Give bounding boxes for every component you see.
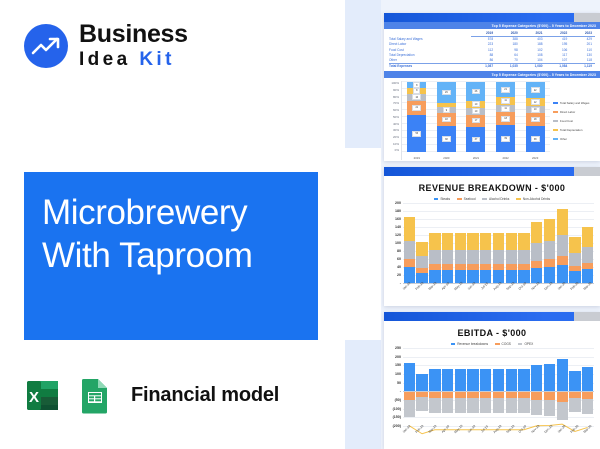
axis-tick: 10% [387, 142, 399, 146]
legend-swatch [553, 111, 558, 113]
trend-line [403, 348, 594, 449]
legend-item: Steaks [434, 197, 450, 201]
spreadsheet-tab-bar [384, 167, 600, 176]
chart-bar [506, 203, 517, 283]
legend-swatch [553, 129, 558, 131]
page-title-line-1: Microbrewery [42, 192, 312, 235]
expenses-x-axis: 20192020202120222023 [402, 156, 550, 160]
chart-bar: 2610101737 [466, 82, 485, 152]
bar-segment [467, 233, 478, 251]
expenses-plot: 8810215329918382610101737211111183922121… [401, 81, 550, 160]
bar-segment: 39 [496, 125, 515, 152]
bar-segment: 12 [526, 98, 545, 106]
bar-segment [467, 250, 478, 264]
bar-value-label: 22 [531, 87, 540, 93]
excel-icon: X [24, 375, 65, 416]
axis-tick: - [400, 389, 401, 393]
legend-item: Total Depreciation [553, 128, 597, 132]
chart-bar [569, 203, 580, 283]
bar-segment: 38 [526, 126, 545, 153]
legend-label: Total Depreciation [560, 128, 582, 132]
legend-label: Steaks [440, 197, 450, 201]
axis-tick: 20% [387, 135, 399, 139]
bar-segment: 10 [466, 101, 485, 108]
revenue-chart-title: REVENUE BREAKDOWN - $'000 [384, 176, 600, 193]
legend-label: OPEX [524, 342, 533, 346]
legend-item: Seafood [457, 197, 475, 201]
bar-value-label: 18 [442, 117, 451, 123]
bar-value-label: 10 [412, 94, 421, 100]
decorative-band-top [345, 0, 381, 148]
chart-bar [531, 203, 542, 283]
legend-item: COGS [495, 342, 511, 346]
chart-bar [582, 203, 593, 283]
axis-tick: 120 [395, 233, 401, 237]
bar-segment: 37 [466, 127, 485, 153]
bar-segment [506, 233, 517, 251]
table-cell: 86 [471, 58, 496, 63]
chart-bar: 2111111839 [496, 82, 515, 152]
axis-tick: 250 [395, 346, 401, 350]
bar-segment: 11 [496, 97, 515, 105]
bar-segment: 38 [437, 126, 456, 153]
bar-value-label: 26 [472, 89, 481, 95]
axis-tick: 40 [397, 265, 401, 269]
legend-label: Revenue breakdowns [457, 342, 488, 346]
bar-segment [404, 241, 415, 259]
bar-segment [557, 209, 568, 235]
legend-item: Total Salary and Wages [553, 101, 597, 105]
legend-swatch [495, 343, 500, 346]
axis-tick: 100 [395, 241, 401, 245]
hero-block: MicrobreweryWith Taproom [24, 172, 318, 340]
bar-segment: 18 [496, 112, 515, 125]
bar-segment [442, 264, 453, 270]
bar-value-label: 39 [501, 136, 510, 142]
bar-segment: 29 [437, 82, 456, 102]
bar-segment: 21 [496, 82, 515, 97]
axis-tick: 50 [397, 381, 401, 385]
axis-tick: 40% [387, 122, 399, 126]
axis-tick: 90% [387, 88, 399, 92]
axis-tick: 2019 [407, 156, 426, 160]
bar-segment [506, 264, 517, 270]
legend-swatch [516, 198, 521, 201]
bar-value-label: 38 [442, 136, 451, 142]
bar-segment: 11 [496, 105, 515, 113]
ebitda-plot [403, 348, 594, 426]
axis-tick: 150 [395, 363, 401, 367]
bar-segment: 10 [526, 106, 545, 113]
chart-bar: 88102153 [407, 82, 426, 152]
bar-segment [467, 264, 478, 270]
bar-segment [442, 250, 453, 264]
bar-segment [557, 265, 568, 283]
axis-tick: 20 [397, 273, 401, 277]
axis-tick: 30% [387, 128, 399, 132]
bar-segment [582, 263, 593, 269]
bar-segment: 17 [466, 115, 485, 127]
axis-tick: (100) [393, 407, 401, 411]
bar-segment [429, 233, 440, 251]
axis-tick: 50% [387, 115, 399, 119]
bar-segment [544, 259, 555, 267]
axis-tick: 200 [395, 355, 401, 359]
bar-segment [442, 233, 453, 251]
legend-label: Direct Labor [560, 110, 575, 114]
bar-segment: 22 [526, 82, 545, 97]
expenses-stacked-chart: 100%90%80%70%60%50%40%30%20%10%0% 881021… [384, 78, 600, 160]
chart-bar [480, 203, 491, 283]
bar-segment [582, 247, 593, 263]
bar-segment [518, 250, 529, 264]
bar-segment [557, 235, 568, 256]
legend-swatch [553, 120, 558, 122]
bar-segment [493, 250, 504, 264]
legend-label: Seafood [464, 197, 476, 201]
brand-name-line1: Business [79, 22, 188, 47]
bar-value-label: 53 [412, 131, 421, 137]
bar-segment [569, 253, 580, 266]
bar-segment [518, 233, 529, 251]
bar-segment [544, 219, 555, 241]
table-cell: 104 [521, 58, 546, 63]
table-cell: 1,119 [570, 64, 595, 69]
axis-tick: (150) [393, 415, 401, 419]
axis-tick: 180 [395, 209, 401, 213]
legend-swatch [451, 343, 456, 346]
axis-tick: 80 [397, 249, 401, 253]
page-title: MicrobreweryWith Taproom [42, 192, 312, 277]
bar-value-label: 12 [531, 99, 540, 105]
chart-bar [404, 203, 415, 283]
axis-tick: 2021 [466, 156, 485, 160]
bar-segment [569, 237, 580, 253]
axis-tick: 100 [395, 372, 401, 376]
legend-item: Alcohol Drinks [482, 197, 509, 201]
bar-segment: 10 [407, 94, 426, 101]
bar-value-label: 11 [501, 98, 509, 104]
table-row: Other8670104107118 [389, 58, 595, 63]
preview-card-ebitda[interactable]: EBITDA - $'000 Revenue breakdownsCOGSOPE… [384, 312, 600, 449]
bar-value-label: 29 [442, 90, 451, 96]
chart-bar [455, 203, 466, 283]
bar-segment [569, 266, 580, 271]
trending-up-arrow-circle-icon [24, 24, 68, 68]
table-cell: 1,087 [471, 64, 496, 69]
expenses-table-banner: Top 5 Expense Categories ($'000) - 5 Yea… [384, 22, 600, 29]
legend-item: OPEX [518, 342, 533, 346]
bar-segment [531, 222, 542, 244]
brand-name-line2: Idea Kit [79, 50, 188, 69]
table-total-row: Total Expenses1,0871,0351,0801,0841,119 [389, 63, 595, 69]
bar-segment: 26 [466, 82, 485, 100]
expenses-table: 20192020202120222023Total Salary and Wag… [384, 29, 600, 71]
bar-segment [455, 264, 466, 270]
bar-segment [416, 242, 427, 256]
axis-tick: 140 [395, 225, 401, 229]
bar-segment [480, 264, 491, 270]
table-row-label: Total Expenses [389, 64, 471, 69]
bar-segment: 21 [407, 101, 426, 116]
revenue-x-axis: Jan-19Feb-19Mar-19Apr-19May-19Jun-19Jul-… [384, 284, 600, 288]
revenue-plot [403, 203, 594, 283]
axis-tick: 80% [387, 95, 399, 99]
bar-segment: 18 [526, 113, 545, 126]
revenue-y-axis: 20018016014012010080604020- [387, 203, 403, 283]
chart-bar [416, 203, 427, 283]
bar-segment [506, 250, 517, 264]
axis-tick: 2022 [496, 156, 515, 160]
legend-label: Other [560, 137, 567, 141]
bar-segment [429, 264, 440, 270]
legend-swatch [482, 198, 487, 201]
page-title-line-2: With Taproom [42, 235, 312, 278]
legend-item: Food Cost [553, 119, 597, 123]
legend-swatch [518, 343, 523, 346]
bar-segment [518, 264, 529, 270]
bar-segment [493, 264, 504, 270]
bar-segment [480, 233, 491, 251]
axis-tick: 2020 [437, 156, 456, 160]
table-cell: 118 [570, 58, 595, 63]
spreadsheet-tab-bar [384, 312, 600, 321]
bar-segment [429, 250, 440, 264]
ebitda-chart-title: EBITDA - $'000 [384, 321, 600, 338]
axis-tick: 160 [395, 217, 401, 221]
ebitda-y-axis: 25020015010050-(50)(100)(150)(200) [387, 348, 403, 426]
bar-value-label: 11 [501, 106, 509, 112]
legend-swatch [553, 138, 558, 140]
spreadsheet-tab-bar [384, 13, 600, 22]
bar-value-label: 10 [472, 101, 481, 107]
bar-value-label: 18 [531, 117, 540, 123]
bar-value-label: 9 [443, 107, 450, 113]
chart-bar: 2991838 [437, 82, 456, 152]
bar-value-label: 37 [472, 137, 481, 143]
revenue-legend: SteaksSeafoodAlcohol DrinksNon-Alcohol D… [384, 193, 600, 203]
axis-tick: 100% [387, 81, 399, 85]
legend-item: Direct Labor [553, 110, 597, 114]
bar-segment [416, 256, 427, 268]
bar-segment [404, 217, 415, 241]
chart-bar [493, 203, 504, 283]
chart-bar [557, 203, 568, 283]
table-cell: 1,080 [521, 64, 546, 69]
table-cell: 107 [546, 58, 571, 63]
chart-bar [544, 203, 555, 283]
chart-bar: 2212101838 [526, 82, 545, 152]
format-row: X Financial model [24, 375, 279, 416]
legend-item: Revenue breakdowns [451, 342, 488, 346]
table-row-label: Other [389, 58, 471, 63]
axis-tick: 2023 [526, 156, 545, 160]
legend-label: COGS [502, 342, 511, 346]
chart-bar [518, 203, 529, 283]
bar-segment: 18 [437, 113, 456, 126]
axis-tick: 200 [395, 201, 401, 205]
bar-segment [557, 256, 568, 264]
preview-card-expenses[interactable]: Top 5 Expense Categories ($'000) - 5 Yea… [384, 13, 600, 161]
legend-label: Food Cost [560, 119, 573, 123]
expenses-y-axis: 100%90%80%70%60%50%40%30%20%10%0% [387, 81, 401, 160]
brand-kit-text: Kit [139, 49, 175, 70]
legend-swatch [553, 102, 558, 104]
axis-tick: 0% [387, 148, 399, 152]
brand-idea-text: Idea [79, 49, 139, 70]
axis-tick: - [400, 281, 401, 285]
bar-value-label: 17 [472, 118, 481, 124]
bar-value-label: 21 [501, 87, 510, 93]
legend-swatch [457, 198, 462, 201]
bar-segment [493, 233, 504, 251]
axis-tick: 60% [387, 108, 399, 112]
bar-segment: 10 [466, 108, 485, 115]
bar-value-label: 21 [412, 105, 421, 111]
decorative-band-bottom [345, 340, 381, 449]
ebitda-legend: Revenue breakdownsCOGSOPEX [384, 338, 600, 348]
bar-value-label: 10 [531, 107, 540, 113]
table-cell: 1,084 [546, 64, 571, 69]
bar-value-label: 18 [501, 116, 510, 122]
bar-value-label: 10 [472, 108, 481, 114]
bar-segment [582, 227, 593, 248]
preview-card-revenue[interactable]: REVENUE BREAKDOWN - $'000 SteaksSeafoodA… [384, 167, 600, 306]
bar-segment [544, 241, 555, 259]
chart-bar [467, 203, 478, 283]
legend-label: Non-Alcohol Drinks [523, 197, 550, 201]
bar-segment [455, 250, 466, 264]
bar-segment [531, 243, 542, 260]
legend-label: Total Salary and Wages [560, 101, 589, 105]
axis-tick: 70% [387, 101, 399, 105]
bar-value-label: 38 [531, 136, 540, 142]
bar-segment [455, 233, 466, 251]
expenses-chart-banner: Top 5 Expense Categories ($'000) - 5 Yea… [384, 71, 600, 78]
legend-swatch [434, 198, 439, 201]
bar-group [403, 203, 594, 283]
google-sheets-icon [74, 375, 115, 416]
table-cell: 1,035 [496, 64, 521, 69]
legend-item: Non-Alcohol Drinks [516, 197, 550, 201]
bar-segment [416, 268, 427, 273]
axis-tick: 60 [397, 257, 401, 261]
axis-tick: (200) [393, 424, 401, 428]
bar-segment: 53 [407, 115, 426, 152]
bar-segment [480, 250, 491, 264]
svg-text:X: X [29, 389, 39, 406]
expenses-legend: Total Salary and WagesDirect LaborFood C… [550, 81, 597, 160]
legend-label: Alcohol Drinks [489, 197, 509, 201]
table-cell: 70 [496, 58, 521, 63]
left-panel: Business Idea Kit MicrobreweryWith Tapro… [0, 0, 345, 449]
brand-logo[interactable]: Business Idea Kit [24, 22, 188, 69]
bar-segment [531, 261, 542, 268]
legend-item: Other [553, 137, 597, 141]
format-label: Financial model [131, 384, 279, 407]
chart-bar [442, 203, 453, 283]
chart-bar [429, 203, 440, 283]
axis-tick: (50) [395, 398, 401, 402]
bar-segment [404, 259, 415, 267]
